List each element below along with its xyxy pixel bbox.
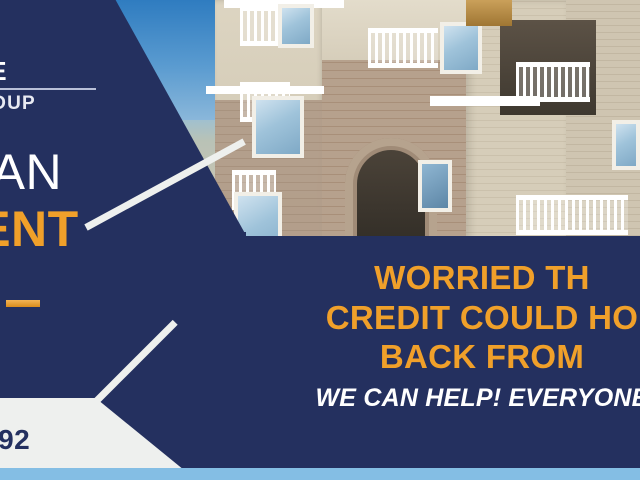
promo-copy: WORRIED TH CREDIT COULD HO BACK FROM WE … — [232, 258, 640, 414]
balcony-railing — [368, 28, 438, 68]
building-window — [440, 22, 482, 74]
bottom-accent-bar — [0, 468, 640, 480]
orange-divider-rule — [6, 300, 40, 307]
promo-subline: WE CAN HELP! EVERYONE — [232, 383, 640, 414]
logo-divider — [0, 88, 96, 90]
wood-beam — [466, 0, 512, 26]
promotional-banner: ATIVE NT GROUP NG AN TMENT 992 WORRIED T… — [0, 0, 640, 480]
company-logo: ATIVE NT GROUP — [0, 58, 106, 113]
building-window — [418, 160, 452, 212]
logo-line-1: ATIVE — [0, 58, 106, 84]
promo-line-1: WORRIED TH — [232, 258, 640, 298]
balcony-railing — [516, 195, 628, 235]
balcony-railing — [516, 62, 590, 102]
headline-line-1: NG AN — [0, 146, 79, 199]
headline-line-2: TMENT — [0, 203, 79, 256]
main-headline: NG AN TMENT — [0, 146, 79, 256]
promo-line-3: BACK FROM — [232, 337, 640, 377]
balcony-railing — [240, 6, 280, 46]
logo-line-2: NT GROUP — [0, 94, 106, 113]
promo-line-2: CREDIT COULD HO — [232, 298, 640, 338]
building-window — [612, 120, 640, 170]
building-window — [252, 96, 304, 158]
building-window — [278, 4, 314, 48]
phone-number-text: 992 — [0, 424, 30, 456]
